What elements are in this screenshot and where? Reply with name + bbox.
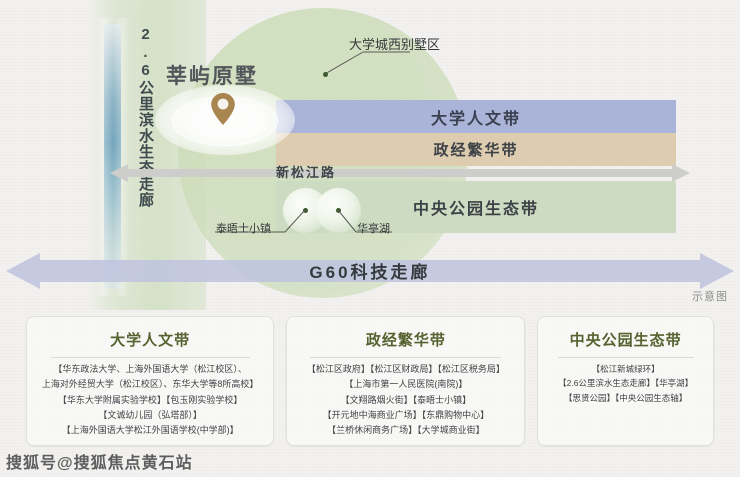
card-line: 【华东大学附属实验学校】【包玉刚实验学校】 xyxy=(58,394,243,406)
card-central-park-ecology: 中央公园生态带 【松江新城绿环】 【2.6公里滨水生态走廊】【华亭湖】 【思贤公… xyxy=(537,316,714,446)
card-line: 【上海外国语大学松江外国语学校(中学部)】 xyxy=(62,424,239,436)
callout-daxuecheng-xi-leader xyxy=(325,48,410,80)
belt-university-humanities-label: 大学人文带 xyxy=(431,105,521,129)
xin-songjiang-road-arrow xyxy=(110,162,690,184)
location-map: 2.6公里滨水生态走廊 大学人文带 政经繁华带 中央公园生态带 莘屿原墅 新松江… xyxy=(0,0,740,310)
callout-daxuecheng-xi-dot xyxy=(323,72,328,77)
callout-huating-label: 华亭湖 xyxy=(357,220,390,236)
card-university-humanities-title: 大学人文带 xyxy=(110,329,190,350)
belt-detail-cards: 大学人文带 【华东政法大学、上海外国语大学（松江校区）、 上海对外经贸大学（松江… xyxy=(0,316,740,446)
card-government-economy: 政经繁华带 【松江区政府】【松江区财政局】【松江区税务局】 【上海市第一人民医院… xyxy=(286,316,525,446)
card-government-economy-title: 政经繁华带 xyxy=(366,329,446,350)
card-line: 【文诚幼儿园（弘塔部）】 xyxy=(98,409,202,421)
card-line: 【思贤公园】【中央公园生态轴】 xyxy=(564,393,687,404)
card-government-economy-lines: 【松江区政府】【松江区财政局】【松江区税务局】 【上海市第一人民医院(南院)】 … xyxy=(297,363,514,436)
project-name-label: 莘屿原墅 xyxy=(166,60,258,90)
belt-government-economy-label: 政经繁华带 xyxy=(433,139,518,160)
card-line: 【松江区政府】【松江区财政局】【松江区税务局】 xyxy=(307,363,505,375)
card-line: 【2.6公里滨水生态走廊】【华亭湖】 xyxy=(558,378,693,389)
card-line: 【开元地中海商业广场】【东鼎购物中心】 xyxy=(323,409,490,421)
card-separator xyxy=(558,357,694,358)
belt-central-park-ecology-label: 中央公园生态带 xyxy=(413,195,539,219)
map-pin-icon xyxy=(210,92,236,126)
card-line: 【华东政法大学、上海外国语大学（松江校区）、 xyxy=(53,363,247,375)
card-university-humanities: 大学人文带 【华东政法大学、上海外国语大学（松江校区）、 上海对外经贸大学（松江… xyxy=(26,316,274,446)
watermark-label: 搜狐号@搜狐焦点黄石站 xyxy=(6,449,193,473)
card-central-park-ecology-title: 中央公园生态带 xyxy=(570,329,682,350)
card-line: 【松江新城绿环】 xyxy=(592,364,660,375)
belt-university-humanities: 大学人文带 xyxy=(276,100,676,133)
g60-corridor-label: G60科技走廊 xyxy=(0,258,740,283)
card-line: 【兰桥休闲商务广场】【大学城商业街】 xyxy=(327,424,485,436)
card-line: 上海对外经贸大学（松江校区）、东华大学等8所高校】 xyxy=(42,378,259,390)
xin-songjiang-road-label: 新松江路 xyxy=(270,160,342,183)
card-central-park-ecology-lines: 【松江新城绿环】 【2.6公里滨水生态走廊】【华亭湖】 【思贤公园】【中央公园生… xyxy=(548,364,703,404)
card-university-humanities-lines: 【华东政法大学、上海外国语大学（松江校区）、 上海对外经贸大学（松江校区）、东华… xyxy=(37,363,263,436)
callout-taiwushi-label: 泰晤士小镇 xyxy=(216,220,271,236)
card-line: 【文翔路烟火街】【泰晤士小镇】 xyxy=(341,394,472,406)
schematic-note: 示意图 xyxy=(692,288,728,304)
card-line: 【上海市第一人民医院(南院)】 xyxy=(344,378,467,390)
infographic-root: 2.6公里滨水生态走廊 大学人文带 政经繁华带 中央公园生态带 莘屿原墅 新松江… xyxy=(0,0,740,477)
